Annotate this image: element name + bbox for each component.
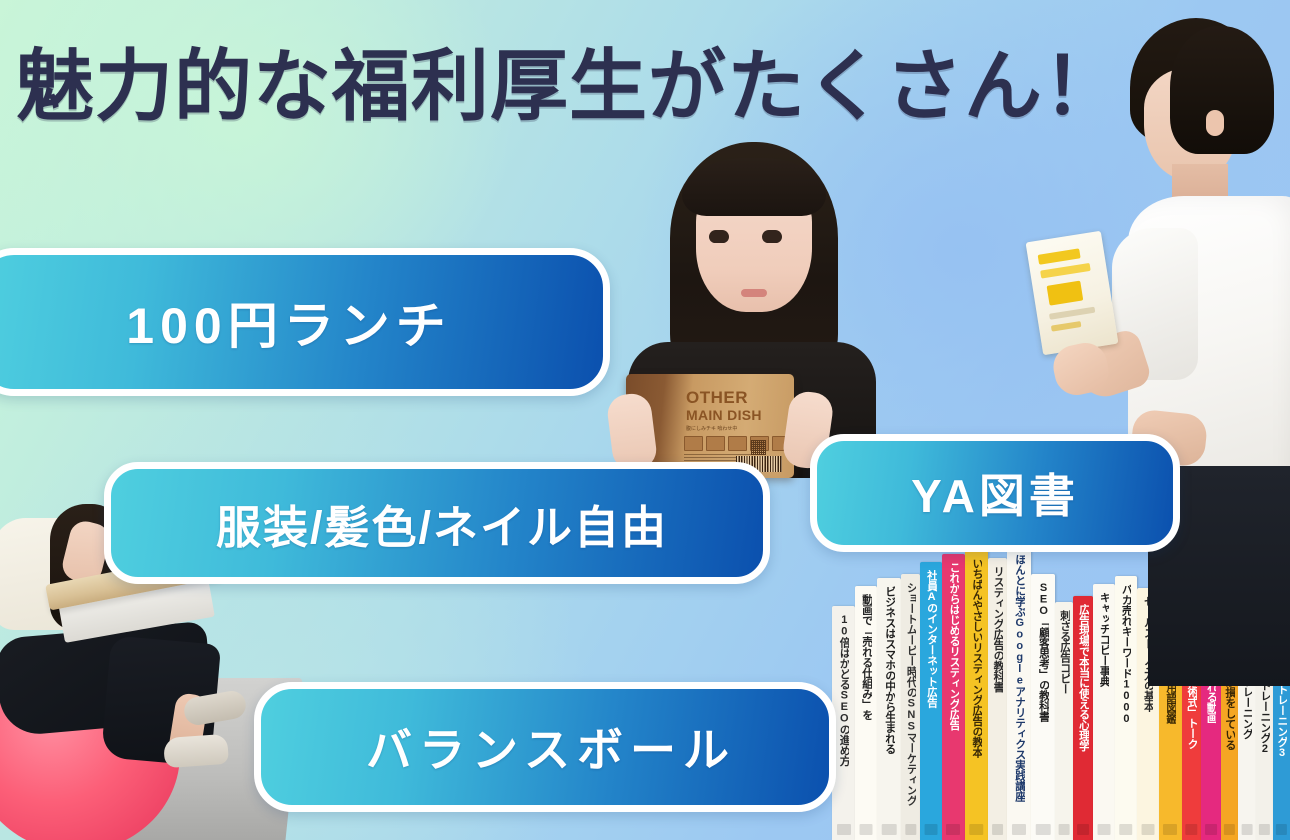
book-spine-publisher-mark [837, 824, 851, 835]
book-spine: ビジネスはスマホの中から生まれる [877, 578, 901, 840]
book-spine: いちばんやさしいリスティング広告の教本 [965, 550, 988, 840]
benefit-pill-balance-ball[interactable]: バランスボール [254, 682, 836, 812]
man-ear [1206, 110, 1224, 136]
book-spine-publisher-mark [1186, 824, 1197, 835]
package-qr-code-icon [751, 440, 766, 455]
package-nutrition-table [684, 436, 791, 451]
book-spine-title: いちばんやさしいリスティング広告の教本 [971, 558, 982, 823]
book-spine: これからはじめるリスティング広告 [942, 554, 965, 840]
poster-canvas: 魅力的な福利厚生がたくさん！ OTHER MAIN DISH 腹にしみチキ 喰わ… [0, 0, 1290, 840]
package-subtitle: MAIN DISH [686, 407, 762, 423]
book-spine-publisher-mark [946, 824, 960, 835]
book-spine-publisher-mark [1059, 824, 1070, 835]
package-title: OTHER [686, 388, 748, 408]
book-spine-publisher-mark [924, 824, 937, 835]
book-spine-publisher-mark [1163, 824, 1177, 835]
man-held-book [1026, 231, 1119, 355]
book-spine: リスティング広告の教科書 [988, 558, 1008, 840]
book-spine-title: リスティング広告の教科書 [992, 566, 1003, 824]
bento-woman-bangs [682, 158, 826, 216]
book-spine-publisher-mark [1141, 824, 1154, 835]
book-spine-publisher-mark [970, 824, 984, 835]
book-spine-publisher-mark [1276, 824, 1286, 835]
book-spine-title: ビジネスはスマホの中から生まれる [884, 586, 895, 825]
book-spine-publisher-mark [860, 824, 873, 835]
photo-woman-holding-lunch: OTHER MAIN DISH 腹にしみチキ 喰わせ中 [604, 142, 904, 478]
book-spine-publisher-mark [1259, 824, 1269, 835]
book-spine-publisher-mark [1097, 824, 1110, 835]
bento-woman-eye-left [709, 230, 729, 243]
book-spine-title: 10倍はかどるSEOの進め方 [838, 614, 849, 826]
book-spine-title: ショートムービー時代のSNSマーケティング [905, 582, 916, 825]
benefit-pill-lunch-label: 100円ランチ [0, 286, 603, 358]
book-spine-publisher-mark [1241, 824, 1252, 835]
book-spine-publisher-mark [1036, 824, 1051, 835]
book-spine-publisher-mark [882, 824, 897, 835]
book-spine-publisher-mark [992, 824, 1004, 835]
book-spine-title: これからはじめるリスティング広告 [948, 562, 959, 823]
book-spine-title: 動画で「売れる仕組み」を [861, 594, 872, 825]
book-spine-publisher-mark [1205, 824, 1217, 835]
ball-woman-sandal-front [163, 734, 229, 768]
bento-woman-lips [741, 289, 767, 297]
book-spine: ショートムービー時代のSNSマーケティング [901, 574, 920, 840]
benefit-pill-ya-library-label: YA図書 [817, 460, 1173, 526]
book-spine-publisher-mark [1012, 824, 1026, 835]
benefit-pill-dress-code[interactable]: 服装/髪色/ネイル自由 [104, 462, 770, 584]
package-caption: 腹にしみチキ 喰わせ中 [686, 425, 737, 432]
book-spine-publisher-mark [1119, 824, 1133, 835]
page-title: 魅力的な福利厚生がたくさん！ [16, 46, 1122, 127]
book-spine-title: 社員Aのインターネット広告 [925, 570, 936, 824]
book-spine: 動画で「売れる仕組み」を [855, 586, 877, 840]
book-spine-publisher-mark [1077, 824, 1089, 835]
benefit-pill-ya-library[interactable]: YA図書 [810, 434, 1180, 552]
man-hair-back [1170, 26, 1274, 154]
benefit-pill-balance-ball-label: バランスボール [261, 714, 829, 780]
bento-woman-eye-right [762, 230, 782, 243]
book-spine-publisher-mark [1224, 824, 1234, 835]
benefit-pill-dress-code-label: 服装/髪色/ネイル自由 [111, 491, 763, 556]
book-spine: 社員Aのインターネット広告 [920, 562, 942, 840]
benefit-pill-lunch[interactable]: 100円ランチ [0, 248, 610, 396]
book-spine-publisher-mark [905, 824, 916, 835]
